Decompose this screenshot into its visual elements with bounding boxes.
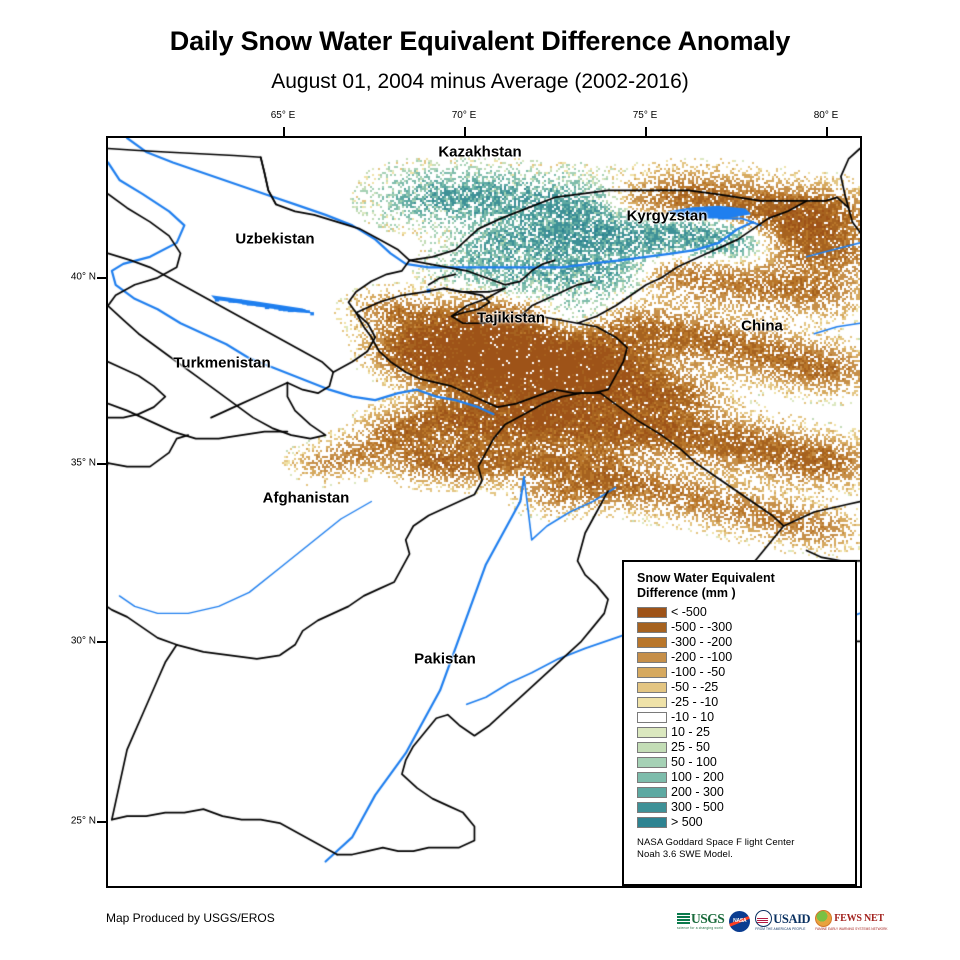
map-page: Daily Snow Water Equivalent Difference A… — [0, 0, 960, 960]
lon-tick-label: 70° E — [452, 110, 477, 121]
legend-class-row[interactable]: > 500 — [637, 815, 855, 830]
usgs-logo[interactable]: USGS science for a changing world — [677, 910, 724, 932]
legend-color-swatch — [637, 667, 667, 678]
usaid-seal-icon — [755, 910, 772, 927]
lon-tick — [645, 127, 647, 136]
lat-tick — [97, 463, 106, 465]
legend-class-label: 100 - 200 — [671, 771, 724, 784]
lat-tick — [97, 277, 106, 279]
lon-tick-label: 75° E — [633, 110, 658, 121]
legend-class-row[interactable]: -200 - -100 — [637, 650, 855, 665]
logo-strip: USGS science for a changing world NASA U… — [677, 908, 888, 934]
legend-class-row[interactable]: 100 - 200 — [637, 770, 855, 785]
legend-class-label: -200 - -100 — [671, 651, 732, 664]
lat-tick — [97, 641, 106, 643]
legend-class-label: 25 - 50 — [671, 741, 710, 754]
legend-class-row[interactable]: 300 - 500 — [637, 800, 855, 815]
lat-tick-label: 40° N — [70, 272, 96, 283]
legend-class-label: 300 - 500 — [671, 801, 724, 814]
lat-tick-label: 25° N — [70, 816, 96, 827]
page-subtitle: August 01, 2004 minus Average (2002-2016… — [0, 70, 960, 94]
legend-class-list: < -500-500 - -300-300 - -200-200 - -100-… — [637, 605, 855, 830]
legend-color-swatch — [637, 802, 667, 813]
legend-class-row[interactable]: 50 - 100 — [637, 755, 855, 770]
usgs-logo-tagline: science for a changing world — [677, 927, 723, 930]
legend-class-row[interactable]: -300 - -200 — [637, 635, 855, 650]
lon-tick — [283, 127, 285, 136]
legend-class-label: -100 - -50 — [671, 666, 725, 679]
legend-color-swatch — [637, 742, 667, 753]
legend-class-label: -500 - -300 — [671, 621, 732, 634]
nasa-logo[interactable]: NASA — [729, 910, 750, 932]
legend-class-label: -50 - -25 — [671, 681, 718, 694]
legend-color-swatch — [637, 772, 667, 783]
legend-class-label: -10 - 10 — [671, 711, 714, 724]
fews-globe-icon — [815, 910, 832, 927]
legend-color-swatch — [637, 817, 667, 828]
legend-class-label: 50 - 100 — [671, 756, 717, 769]
usaid-logo-text: USAID — [773, 913, 810, 926]
legend-source-note: NASA Goddard Space F light Center Noah 3… — [637, 837, 855, 861]
fews-net-logo[interactable]: FEWS NET FAMINE EARLY WARNING SYSTEMS NE… — [815, 910, 887, 932]
lon-tick — [826, 127, 828, 136]
legend-class-label: -300 - -200 — [671, 636, 732, 649]
lon-tick-label: 65° E — [271, 110, 296, 121]
page-title: Daily Snow Water Equivalent Difference A… — [0, 26, 960, 57]
legend-panel[interactable]: Snow Water Equivalent Difference (mm ) <… — [622, 560, 857, 886]
legend-class-row[interactable]: 25 - 50 — [637, 740, 855, 755]
legend-class-label: > 500 — [671, 816, 703, 829]
usaid-logo[interactable]: USAID FROM THE AMERICAN PEOPLE — [755, 910, 810, 932]
legend-color-swatch — [637, 727, 667, 738]
legend-class-label: -25 - -10 — [671, 696, 718, 709]
legend-class-row[interactable]: -100 - -50 — [637, 665, 855, 680]
legend-class-row[interactable]: -500 - -300 — [637, 620, 855, 635]
legend-color-swatch — [637, 622, 667, 633]
legend-color-swatch — [637, 682, 667, 693]
legend-class-row[interactable]: 200 - 300 — [637, 785, 855, 800]
lat-tick-label: 35° N — [70, 458, 96, 469]
legend-color-swatch — [637, 637, 667, 648]
lon-tick — [464, 127, 466, 136]
lat-tick-label: 30° N — [70, 636, 96, 647]
legend-class-row[interactable]: -10 - 10 — [637, 710, 855, 725]
legend-class-label: < -500 — [671, 606, 707, 619]
legend-color-swatch — [637, 697, 667, 708]
fews-net-logo-tagline: FAMINE EARLY WARNING SYSTEMS NETWORK — [815, 928, 887, 931]
usgs-logo-text: USGS — [691, 912, 724, 926]
legend-class-row[interactable]: -25 - -10 — [637, 695, 855, 710]
lat-tick — [97, 821, 106, 823]
legend-class-row[interactable]: -50 - -25 — [637, 680, 855, 695]
legend-class-row[interactable]: < -500 — [637, 605, 855, 620]
legend-class-label: 10 - 25 — [671, 726, 710, 739]
usgs-mark-icon — [677, 913, 690, 925]
legend-color-swatch — [637, 712, 667, 723]
legend-title: Snow Water Equivalent Difference (mm ) — [637, 571, 855, 601]
legend-color-swatch — [637, 607, 667, 618]
footer-credit: Map Produced by USGS/EROS — [106, 911, 275, 925]
legend-color-swatch — [637, 652, 667, 663]
fews-net-logo-text: FEWS NET — [834, 914, 884, 924]
legend-class-row[interactable]: 10 - 25 — [637, 725, 855, 740]
legend-color-swatch — [637, 757, 667, 768]
nasa-meatball-icon: NASA — [729, 911, 750, 932]
nasa-logo-text: NASA — [733, 918, 746, 924]
legend-color-swatch — [637, 787, 667, 798]
lon-tick-label: 80° E — [814, 110, 839, 121]
usaid-logo-tagline: FROM THE AMERICAN PEOPLE — [755, 928, 805, 931]
legend-class-label: 200 - 300 — [671, 786, 724, 799]
